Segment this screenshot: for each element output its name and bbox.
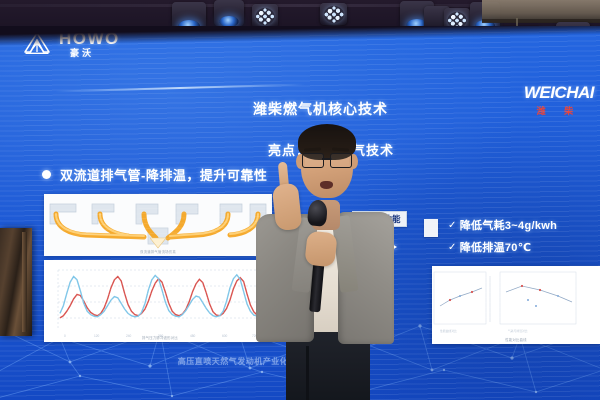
- led-cluster-icon: [256, 8, 275, 25]
- benefit-chip-marker: [424, 219, 438, 237]
- benefit-text: 降低排温70℃: [460, 239, 532, 255]
- wall-light-streak: [55, 84, 305, 93]
- moving-head-light-2: [214, 0, 244, 26]
- weichai-logo: WEICHAI 潍 柴: [524, 83, 594, 117]
- led-par-light-1: [252, 4, 278, 28]
- svg-text:性能曲线对比: 性能曲线对比: [440, 329, 457, 333]
- performance-scatter-charts: 性能曲线对比 气耗与排温对比: [432, 266, 600, 344]
- presenter-mic-hand: [304, 231, 337, 268]
- exhaust-manifold-cfd-icon: [44, 194, 272, 256]
- exhaust-manifold-diagram-panel: 双流道排气管流场仿真: [44, 194, 272, 256]
- weichai-chinese-text: 潍 柴: [524, 104, 594, 117]
- chart-panel-caption: 排气压力脉冲波形对比: [44, 335, 276, 340]
- chair-edge: [22, 232, 27, 332]
- presenter-pointing-hand: [272, 183, 303, 231]
- svg-text:气耗与排温对比: 气耗与排温对比: [508, 329, 528, 333]
- performance-comparison-panel: 性能曲线对比 气耗与排温对比 性能对比曲线: [432, 266, 600, 344]
- weichai-english-text: WEICHAI: [524, 83, 594, 103]
- presenter-glasses: [302, 153, 352, 167]
- check-icon: ✓: [448, 242, 457, 253]
- glasses-lens-right: [330, 153, 352, 168]
- pressure-waveform-chart-panel: 0120 240360 480600 720 排气压力脉冲波形对比: [44, 260, 276, 342]
- benefits-list: ✓ 降低气耗3~4g/kwh ✓ 降低排温70℃: [448, 217, 557, 255]
- screenshot-root: HOWO 豪沃 WEICHAI 潍 柴 潍柴燃气机核心技术 亮点：脉冲排气技术 …: [0, 0, 600, 400]
- slide-bullet-text: 双流道排气管-降排温，提升可靠性: [60, 165, 267, 184]
- manifold-panel-caption: 双流道排气管流场仿真: [44, 249, 272, 254]
- howo-chinese-text: 豪沃: [70, 49, 120, 58]
- right-panel-caption: 性能对比曲线: [432, 337, 600, 342]
- led-cluster-icon: [324, 6, 344, 23]
- benefit-text: 降低气耗3~4g/kwh: [460, 217, 557, 233]
- pressure-waveform-chart: 0120 240360 480600 720: [44, 260, 276, 342]
- benefit-item: ✓ 降低排温70℃: [448, 239, 557, 255]
- led-par-light-2: [320, 3, 347, 25]
- glasses-lens-left: [302, 153, 324, 168]
- microphone-head-icon: [307, 199, 328, 227]
- wooden-chair: [0, 228, 32, 336]
- benefit-item: ✓ 降低气耗3~4g/kwh: [448, 217, 557, 233]
- presenter-mouth: [320, 181, 333, 189]
- check-icon: ✓: [448, 220, 457, 231]
- bullet-dot-icon: [42, 170, 51, 179]
- trouser-leg-split: [306, 346, 309, 400]
- led-wall-top-edge: [0, 26, 600, 46]
- slide-bullet-row: 双流道排气管-降排温，提升可靠性: [42, 165, 267, 184]
- presenter-person: [246, 96, 406, 400]
